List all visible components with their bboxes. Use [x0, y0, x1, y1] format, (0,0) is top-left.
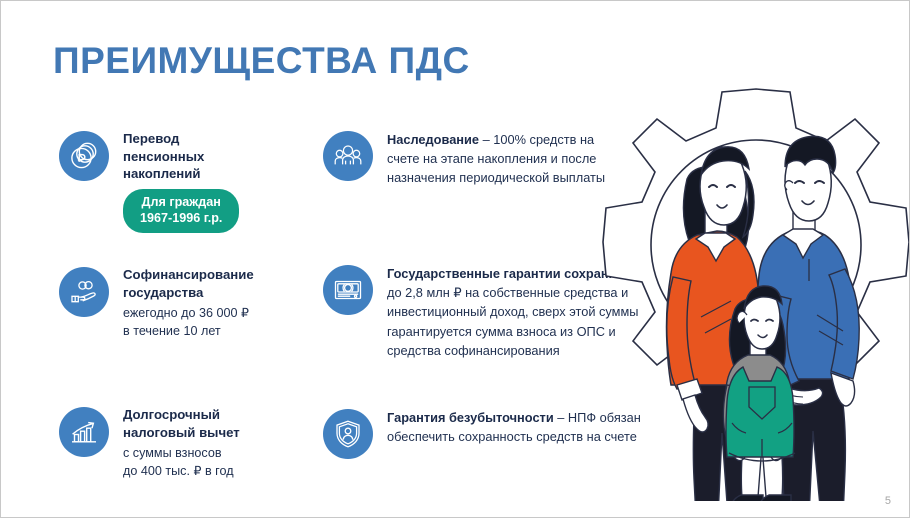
feature-breakeven-lead: Гарантия безубыточности [387, 410, 554, 425]
feature-tax-deduction-text-line1: с суммы взносов [123, 444, 240, 462]
feature-inheritance: Наследование – 100% средств на счете на … [323, 129, 613, 188]
feature-transfer-of-pension-savings: Перевод пенсионных накоплений Для гражда… [59, 129, 309, 233]
feature-tax-deduction-heading: Долгосрочный налоговый вычет [123, 406, 240, 441]
feature-transfer-heading: Перевод пенсионных накоплений [123, 130, 239, 183]
feature-cofinancing-body: Софинансирование государства ежегодно до… [123, 265, 254, 341]
feature-transfer-body: Перевод пенсионных накоплений Для гражда… [123, 129, 239, 233]
status-badge-citizens-years: Для граждан 1967-1996 г.р. [123, 189, 239, 233]
growth-chart-icon [59, 407, 109, 457]
hand-with-coins-icon [59, 267, 109, 317]
feature-tax-deduction-body: Долгосрочный налоговый вычет с суммы взн… [123, 405, 240, 481]
feature-inheritance-text: Наследование – 100% средств на счете на … [387, 130, 613, 188]
feature-cofinancing-text-line2: в течение 10 лет [123, 322, 254, 340]
feature-tax-deduction-text-line2: до 400 тыс. ₽ в год [123, 462, 240, 480]
page-title: ПРЕИМУЩЕСТВА ПДС [53, 41, 470, 82]
feature-cofinancing-heading-line2: государства [123, 284, 254, 302]
feature-cofinancing-heading-line1: Софинансирование [123, 266, 254, 284]
feature-state-cofinancing: Софинансирование государства ежегодно до… [59, 265, 314, 341]
badge-line2: 1967-1996 г.р. [140, 210, 222, 227]
feature-inheritance-lead: Наследование [387, 132, 479, 147]
feature-transfer-heading-line2: пенсионных [123, 148, 239, 166]
feature-cofinancing-text-line1: ежегодно до 36 000 ₽ [123, 304, 254, 322]
feature-breakeven-guarantee: Гарантия безубыточности – НПФ обязан обе… [323, 407, 643, 459]
feature-cofinancing-heading: Софинансирование государства [123, 266, 254, 301]
family-in-gear-illustration [601, 79, 910, 501]
shield-person-icon [323, 409, 373, 459]
feature-tax-deduction-heading-line2: налоговый вычет [123, 424, 240, 442]
slide-root: ПРЕИМУЩЕСТВА ПДС Перевод пенсионных нако… [0, 0, 910, 518]
family-group-icon [323, 131, 373, 181]
feature-tax-deduction-text: с суммы взносов до 400 тыс. ₽ в год [123, 444, 240, 481]
feature-tax-deduction-heading-line1: Долгосрочный [123, 406, 240, 424]
badge-line1: Для граждан [140, 194, 222, 211]
page-number: 5 [885, 495, 891, 507]
feature-inheritance-body: Наследование – 100% средств на счете на … [387, 129, 613, 188]
feature-transfer-heading-line1: Перевод [123, 130, 239, 148]
feature-cofinancing-text: ежегодно до 36 000 ₽ в течение 10 лет [123, 304, 254, 341]
coins-ruble-icon [59, 131, 109, 181]
banknote-icon [323, 265, 373, 315]
feature-long-term-tax-deduction: Долгосрочный налоговый вычет с суммы взн… [59, 405, 314, 481]
feature-transfer-heading-line3: накоплений [123, 165, 239, 183]
